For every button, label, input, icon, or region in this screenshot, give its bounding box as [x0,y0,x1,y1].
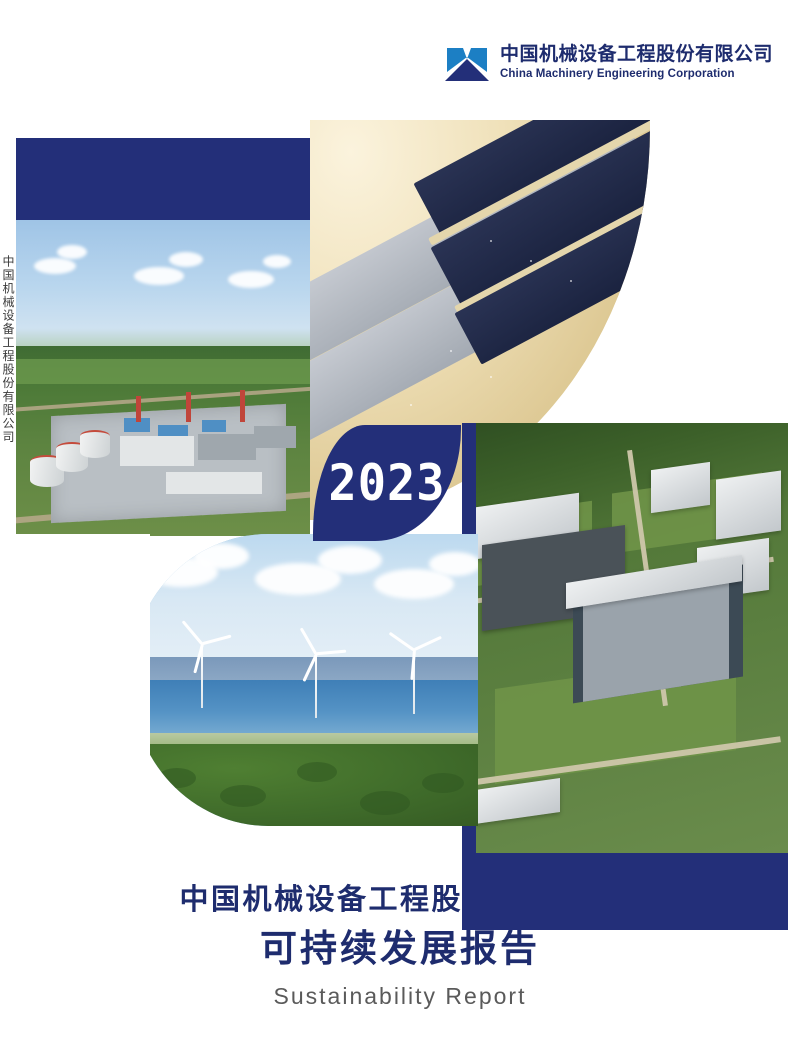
wind-turbine [394,624,434,714]
panel-marker [490,376,492,378]
plant-sky [16,220,310,359]
panel-marker [450,350,452,352]
logo-company-en: China Machinery Engineering Corporation [500,68,773,82]
stack [240,390,245,422]
shrub [360,791,410,815]
panel-marker [410,404,412,406]
storage-tank [80,430,110,458]
shrub [158,768,196,788]
site-building [716,470,781,539]
cloud [318,546,382,574]
cover-image-collage: 2023 [0,120,800,840]
cloud [169,252,203,267]
panel-marker [530,260,532,262]
company-logo-block: 中国机械设备工程股份有限公司 China Machinery Engineeri… [443,40,773,86]
wind-turbine [182,618,222,714]
navy-accent-block-bottom [462,853,788,930]
stack [136,396,141,422]
cloud [34,258,76,274]
wind-turbine [296,628,336,724]
wind-farm-photo [130,534,478,826]
title-report-en: Sustainability Report [0,982,800,1012]
year-badge-label: 2023 [328,458,445,508]
stack [186,392,191,422]
turbine-mast [315,654,318,718]
panel-marker [570,280,572,282]
switchyard [166,472,262,494]
shrub [297,762,337,782]
white-cutout-left [0,534,150,834]
title-report-cn: 可持续发展报告 [0,926,800,972]
power-plant-photo [16,220,310,536]
water-treatment-photo [462,423,788,853]
turbine-mast [201,644,204,708]
panel-marker [490,240,492,242]
site-building [651,462,710,513]
plant-unit [202,420,226,432]
cloud [429,552,478,576]
logo-text-group: 中国机械设备工程股份有限公司 China Machinery Engineeri… [500,44,773,81]
cloud [193,543,249,569]
plant-unit [254,426,296,448]
plant-unit [120,436,194,466]
cmec-mountain-logo-icon [443,40,491,86]
turbine-blade [182,620,203,645]
cloud [228,271,274,288]
cloud [263,255,291,268]
field [16,359,310,384]
logo-company-cn: 中国机械设备工程股份有限公司 [500,44,773,66]
plant-unit [198,434,256,460]
turbine-blade [300,627,317,654]
year-badge-2023: 2023 [313,425,461,541]
report-cover-page: 中国机械设备工程股份有限公司 China Machinery Engineeri… [0,0,800,1062]
